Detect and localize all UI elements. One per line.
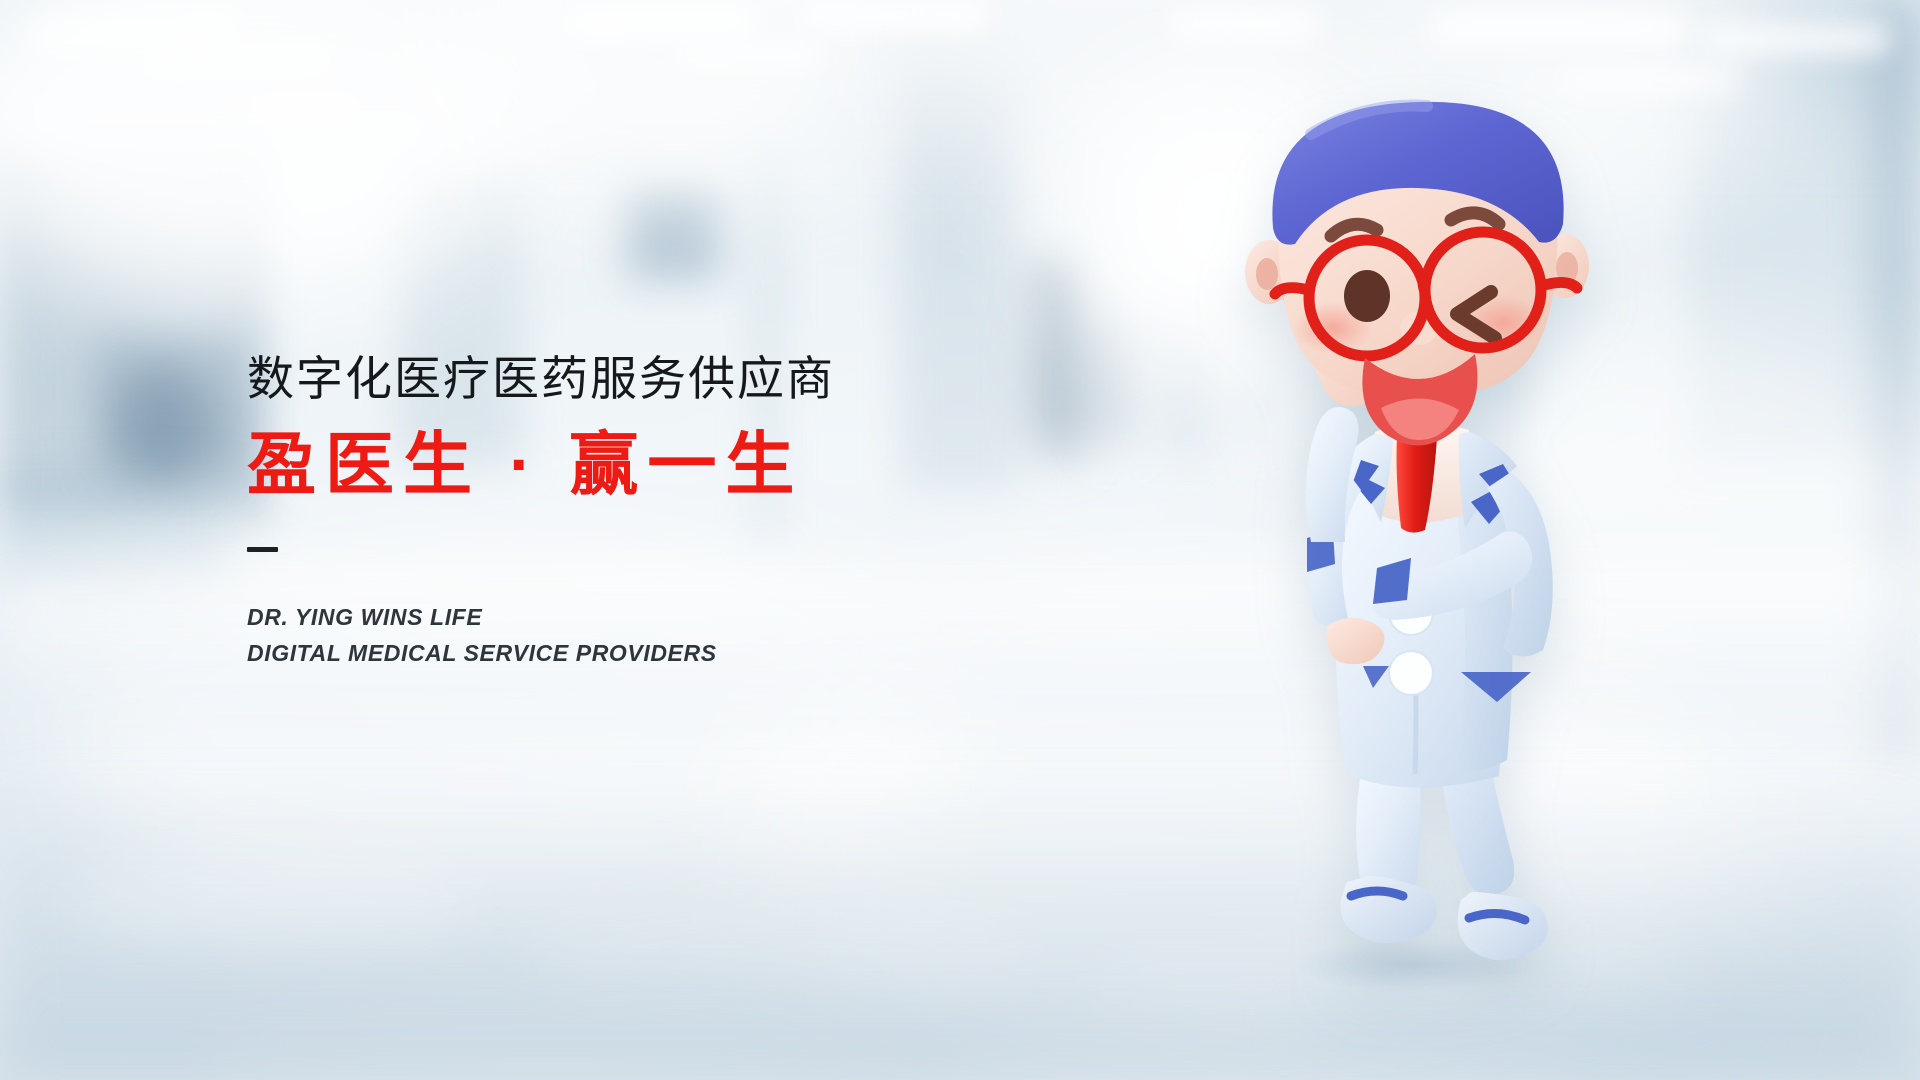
dr-ying-character [1215,60,1645,1020]
hero-slogan-chinese: 盈医生 · 赢一生 [247,430,967,499]
mascot-head [1245,102,1589,446]
hero-banner: 数字化医疗医药服务供应商 盈医生 · 赢一生 DR. YING WINS LIF… [0,0,1920,1080]
divider-rule [247,547,278,552]
hero-headline-chinese: 数字化医疗医药服务供应商 [247,355,967,402]
hero-english-line-1: DR. YING WINS LIFE [247,600,967,636]
hero-english-line-2: DIGITAL MEDICAL SERVICE PROVIDERS [247,636,967,672]
shoe-stripe [1351,891,1403,896]
hero-copy: 数字化医疗医药服务供应商 盈医生 · 赢一生 DR. YING WINS LIF… [247,355,967,671]
open-eye [1344,270,1390,322]
hero-english-block: DR. YING WINS LIFE DIGITAL MEDICAL SERVI… [247,600,967,671]
